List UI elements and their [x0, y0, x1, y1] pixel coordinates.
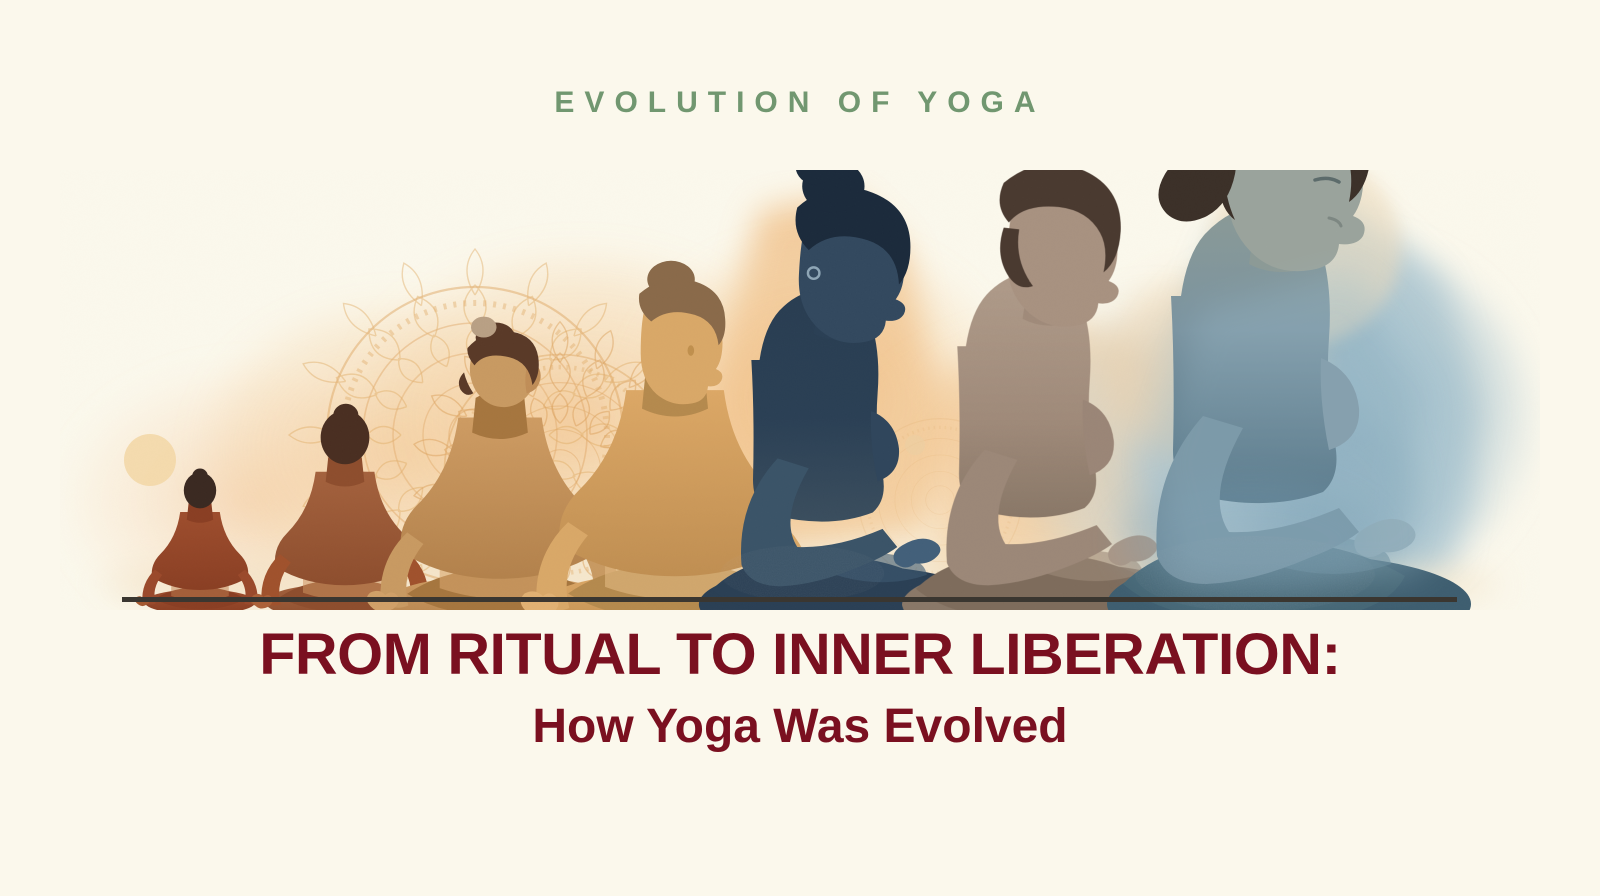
page-title: FROM RITUAL TO INNER LIBERATION:: [0, 624, 1600, 685]
page-eyebrow-text: EVOLUTION OF YOGA: [0, 86, 1600, 120]
page-subtitle: How Yoga Was Evolved: [0, 701, 1600, 754]
yoga-evolution-artwork: [60, 170, 1540, 610]
poster-canvas: EVOLUTION OF YOGA: [0, 0, 1600, 896]
paper-grain: [60, 170, 1540, 610]
artwork-svg: [60, 170, 1540, 610]
title-block: FROM RITUAL TO INNER LIBERATION: How Yog…: [0, 624, 1600, 754]
horizontal-baseline-rule: [122, 597, 1457, 602]
